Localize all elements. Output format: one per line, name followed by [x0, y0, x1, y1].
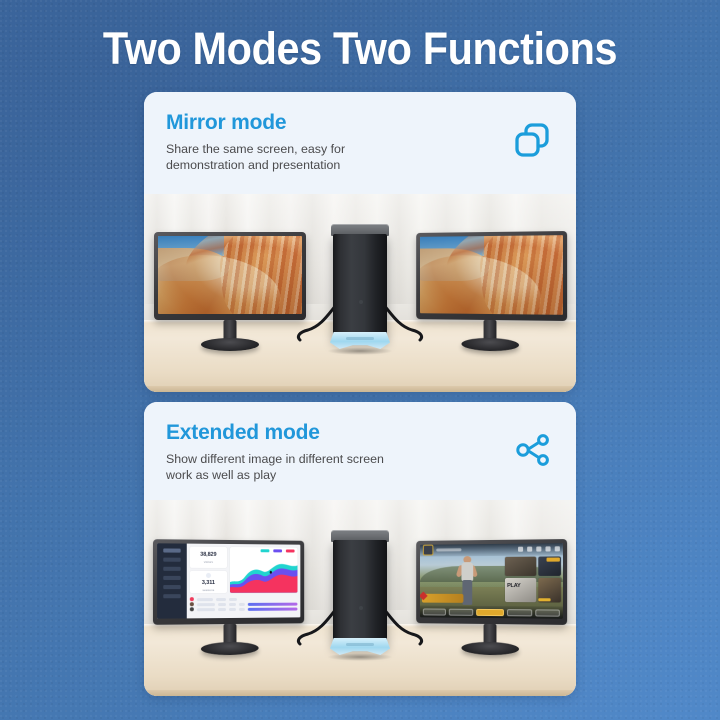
card-subtitle-line2: demonstration and presentation	[166, 158, 340, 172]
stat-caption-secondary: sessions	[202, 588, 214, 592]
monitor-left-mirror	[154, 232, 306, 320]
game-notification-badge[interactable]	[422, 593, 464, 603]
photo-mirror-mode	[144, 194, 576, 392]
game-play-button[interactable]	[476, 609, 505, 616]
page-title: Two Modes Two Functions	[29, 23, 691, 75]
friends-icon	[545, 547, 550, 552]
dashboard-area-chart	[230, 547, 298, 593]
mail-icon	[536, 547, 541, 552]
marketing-image: Two Modes Two Functions Mirror mode Shar…	[0, 0, 720, 720]
mode-card-extended: Extended mode Show different image in di…	[144, 402, 576, 696]
table-row[interactable]	[190, 602, 298, 606]
table-header-row	[190, 598, 298, 601]
card-title-mirror: Mirror mode	[166, 112, 554, 134]
monitor-screen-dashboard: 38,829 visitors 3,311 sessions	[157, 543, 300, 618]
monitor-bezel: 38,829 visitors 3,311 sessions	[153, 539, 304, 625]
monitor-screen-game: PLAY	[420, 543, 563, 619]
pc-tower-mirror	[329, 224, 391, 352]
mic-icon	[518, 547, 523, 552]
card-header-extended: Extended mode Show different image in di…	[144, 402, 576, 500]
dashboard-main: 38,829 visitors 3,311 sessions	[187, 544, 301, 619]
share-nodes-icon	[510, 428, 554, 472]
game-top-icons[interactable]	[518, 547, 560, 552]
canyon-wallpaper	[420, 235, 563, 315]
game-card[interactable]	[538, 578, 561, 603]
monitor-screen-left-mirror	[158, 236, 302, 314]
monitor-bezel: PLAY	[416, 539, 567, 625]
analytics-dashboard: 38,829 visitors 3,311 sessions	[157, 543, 300, 618]
game-card[interactable]	[505, 556, 536, 576]
progress-bar	[248, 608, 298, 611]
play-label: PLAY	[507, 583, 520, 589]
game-card-grid[interactable]: PLAY	[505, 556, 561, 603]
tower-body	[333, 234, 387, 340]
card-subtitle-mirror: Share the same screen, easy for demonstr…	[166, 141, 496, 174]
dashboard-stats: 38,829 visitors 3,311 sessions	[190, 547, 227, 593]
monitor-bezel	[416, 231, 567, 321]
card-subtitle-line2: work as well as play	[166, 468, 276, 482]
photo-extended-mode: 38,829 visitors 3,311 sessions	[144, 500, 576, 696]
game-lobby: PLAY	[420, 543, 563, 619]
monitor-right-mirror	[416, 231, 567, 321]
game-nav-button[interactable]	[507, 609, 532, 616]
stat-icon	[206, 573, 211, 578]
stat-value-primary: 38,829	[200, 551, 216, 557]
dashboard-top: 38,829 visitors 3,311 sessions	[187, 544, 301, 596]
monitor-left-extended: 38,829 visitors 3,311 sessions	[153, 539, 304, 625]
stat-caption-primary: visitors	[204, 560, 213, 564]
status-dot	[190, 597, 194, 601]
monitor-screen-right-mirror	[420, 235, 563, 315]
chart-legend	[261, 549, 295, 552]
card-subtitle-extended: Show different image in different screen…	[166, 451, 496, 484]
monitor-base	[201, 338, 259, 351]
player-avatar[interactable]	[423, 545, 434, 556]
player-name	[436, 549, 461, 552]
tower-shadow	[327, 347, 393, 355]
settings-icon	[527, 547, 532, 552]
game-nav-button[interactable]	[535, 609, 560, 616]
canyon-wallpaper	[158, 236, 302, 314]
card-subtitle-line1: Share the same screen, easy for	[166, 142, 345, 156]
card-header-mirror: Mirror mode Share the same screen, easy …	[144, 92, 576, 194]
duplicate-windows-icon	[510, 118, 554, 162]
chart-areas	[230, 557, 298, 593]
stat-card-secondary: 3,311 sessions	[190, 571, 227, 593]
card-subtitle-line1: Show different image in different screen	[166, 452, 384, 466]
progress-bar	[248, 603, 298, 606]
game-bottom-bar	[420, 606, 563, 619]
shop-icon	[555, 547, 560, 552]
game-card[interactable]	[538, 556, 561, 576]
game-card-play[interactable]: PLAY	[505, 578, 536, 603]
avatar	[190, 602, 194, 606]
stat-card-primary: 38,829 visitors	[190, 547, 227, 569]
mode-card-mirror: Mirror mode Share the same screen, easy …	[144, 92, 576, 392]
monitor-right-extended: PLAY	[416, 539, 567, 625]
table-row[interactable]	[190, 607, 298, 611]
dashboard-sidebar[interactable]	[157, 543, 186, 618]
tower-shadow	[327, 653, 393, 661]
pc-tower-extended	[329, 530, 391, 658]
game-nav-button[interactable]	[449, 608, 473, 615]
game-top-bar	[420, 543, 563, 556]
avatar	[190, 608, 194, 612]
stat-value-secondary: 3,311	[202, 580, 215, 586]
monitor-bezel	[154, 232, 306, 320]
card-title-extended: Extended mode	[166, 422, 554, 444]
tower-body	[333, 540, 387, 646]
game-nav-button[interactable]	[423, 608, 446, 615]
monitor-neck	[224, 320, 237, 340]
dashboard-table	[187, 596, 301, 619]
